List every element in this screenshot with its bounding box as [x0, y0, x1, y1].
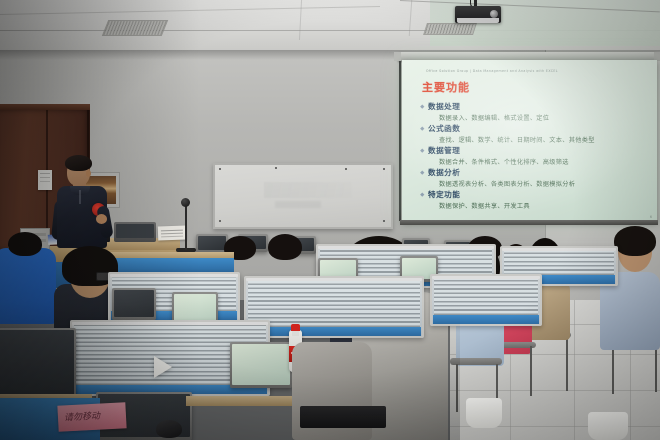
- slide-section: 数据管理 数据合并、条件格式、个性化排序、高级筛选: [428, 145, 649, 166]
- slide-section-heading: 数据处理: [428, 101, 649, 112]
- bottle-cap: [291, 324, 300, 331]
- slide-title: 主要功能: [422, 79, 649, 95]
- monitor: [112, 288, 156, 320]
- ceiling-seam: [0, 6, 380, 15]
- presenter-hand: [96, 214, 107, 224]
- cubicle-divider: [244, 276, 424, 338]
- microphone-icon: [181, 198, 190, 207]
- white-stool: [466, 398, 502, 428]
- whiteboard-residual-writing: [264, 182, 352, 198]
- roller-cap: [394, 52, 401, 61]
- keyboard: [300, 406, 386, 428]
- slide-section-body: 数据合并、条件格式、个性化排序、高级筛选: [439, 157, 649, 166]
- slide-section: 公式函数 查找、逻辑、数学、统计、日期时间、文本、其他类型: [428, 123, 649, 144]
- slide-section-heading: 公式函数: [428, 123, 649, 134]
- slide-section-heading: 特定功能: [428, 189, 649, 200]
- monitor-foreground: [0, 328, 76, 402]
- desk-panel: [108, 258, 234, 272]
- cubicle-divider: [430, 274, 542, 326]
- ceiling: [0, 0, 660, 52]
- screen-edge-rod: [399, 61, 401, 221]
- monitor: [230, 342, 292, 388]
- pink-note-text: 请勿移动: [64, 409, 101, 424]
- slide-section: 数据处理 数据录入、数据编辑、格式设置、定位: [428, 101, 649, 122]
- podium-name-card: [158, 226, 186, 241]
- slide-page-number: 6: [650, 215, 652, 219]
- slide-header-text: Office Solution Group | Data Management …: [426, 69, 649, 73]
- projector-lens: [490, 10, 498, 18]
- projector-icon: [455, 6, 501, 23]
- notice-paper: [38, 170, 52, 190]
- slide-section: 特定功能 数据保护、数据共享、开发工具: [428, 189, 649, 210]
- slide-section-body: 查找、逻辑、数学、统计、日期时间、文本、其他类型: [439, 135, 649, 144]
- ceiling-vent: [102, 20, 168, 36]
- ceiling-vent: [423, 23, 477, 35]
- screen-bottom-bar: [400, 220, 658, 225]
- slide-section-body: 数据保护、数据共享、开发工具: [439, 201, 649, 210]
- presenter-hair: [65, 155, 92, 171]
- ceiling-seam: [299, 0, 302, 40]
- slide-section: 数据分析 数据透视表分析、各类图表分析、数据模拟分析: [428, 167, 649, 188]
- microphone-stand: [185, 202, 187, 250]
- slide-section-heading: 数据管理: [428, 145, 649, 156]
- whiteboard: [213, 163, 393, 229]
- pink-note-card: 请勿移动: [57, 402, 126, 432]
- folded-paper: [154, 356, 172, 378]
- presentation-slide: Office Solution Group | Data Management …: [402, 60, 657, 222]
- classroom-photo: Office Solution Group | Data Management …: [0, 0, 660, 440]
- white-stool: [588, 412, 628, 440]
- slide-section-body: 数据录入、数据编辑、格式设置、定位: [439, 113, 649, 122]
- mouse-icon: [156, 420, 182, 438]
- slide-section-heading: 数据分析: [428, 167, 649, 178]
- podium-monitor: [114, 222, 156, 242]
- projection-screen: Office Solution Group | Data Management …: [402, 60, 657, 222]
- slide-section-body: 数据透视表分析、各类图表分析、数据模拟分析: [439, 179, 649, 188]
